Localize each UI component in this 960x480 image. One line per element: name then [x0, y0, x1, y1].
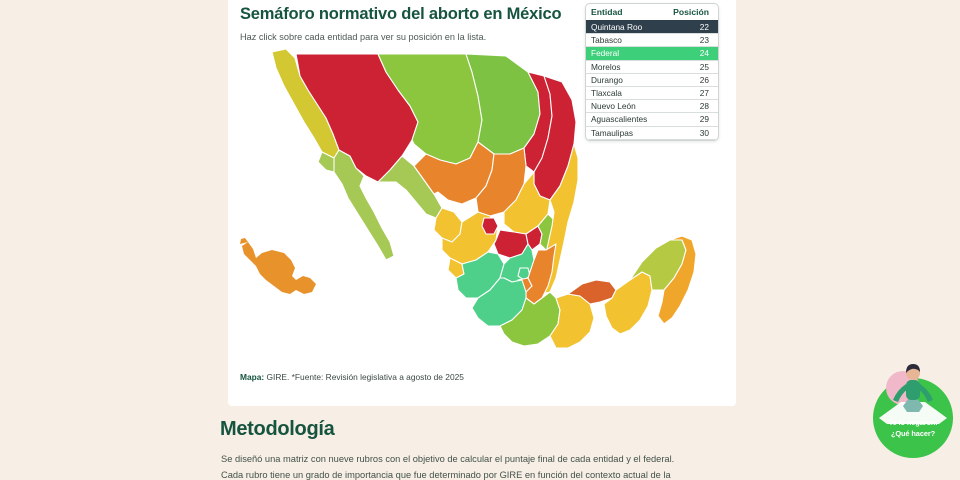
- row-posicion: 27: [669, 88, 713, 98]
- help-badge-button[interactable]: Te lo negaron. ¿Qué hacer?: [873, 378, 953, 458]
- row-entidad: Quintana Roo: [591, 22, 669, 32]
- row-posicion: 30: [669, 128, 713, 138]
- map-source-note: Mapa: GIRE. *Fuente: Revisión legislativ…: [240, 372, 464, 382]
- federal-inset-shape[interactable]: [240, 238, 316, 294]
- row-posicion: 25: [669, 62, 713, 72]
- help-badge-label: Te lo negaron. ¿Qué hacer?: [873, 418, 953, 439]
- help-badge-line-1: Te lo negaron.: [873, 418, 953, 429]
- row-posicion: 23: [669, 35, 713, 45]
- row-entidad: Morelos: [591, 62, 669, 72]
- row-posicion: 24: [669, 48, 713, 58]
- row-entidad: Durango: [591, 75, 669, 85]
- row-entidad: Tabasco: [591, 35, 669, 45]
- methodology-paragraph-line-2: Cada rubro tiene un grado de importancia…: [221, 468, 733, 480]
- table-row[interactable]: Durango 26: [586, 74, 718, 87]
- source-label: Mapa:: [240, 372, 264, 382]
- row-posicion: 22: [669, 22, 713, 32]
- methodology-heading: Metodología: [220, 418, 334, 441]
- methodology-paragraph-line-1: Se diseñó una matriz con nueve rubros co…: [221, 452, 733, 467]
- row-posicion: 28: [669, 101, 713, 111]
- page-root: Semáforo normativo del aborto en México …: [0, 0, 960, 480]
- row-entidad: Nuevo León: [591, 101, 669, 111]
- state-campeche[interactable]: [604, 272, 652, 334]
- person-hair: [906, 364, 920, 373]
- row-entidad: Tamaulipas: [591, 128, 669, 138]
- table-header-entidad: Entidad: [591, 7, 669, 17]
- entity-position-table[interactable]: Entidad Posición Quintana Roo 22 Tabasco…: [585, 3, 719, 141]
- table-row[interactable]: Morelos 25: [586, 61, 718, 74]
- table-row[interactable]: Tabasco 23: [586, 34, 718, 47]
- row-entidad: Aguascalientes: [591, 114, 669, 124]
- map-instruction: Haz click sobre cada entidad para ver su…: [240, 32, 486, 42]
- table-row[interactable]: Federal 24: [586, 47, 718, 60]
- table-header-row: Entidad Posición: [586, 4, 718, 21]
- table-row[interactable]: Nuevo León 28: [586, 100, 718, 113]
- source-text: GIRE. *Fuente: Revisión legislativa a ag…: [264, 372, 464, 382]
- help-badge-line-2: ¿Qué hacer?: [873, 429, 953, 440]
- row-posicion: 26: [669, 75, 713, 85]
- page-title: Semáforo normativo del aborto en México: [240, 5, 561, 24]
- table-header-posicion: Posición: [669, 7, 713, 17]
- table-row[interactable]: Aguascalientes 29: [586, 113, 718, 126]
- map-card: Semáforo normativo del aborto en México …: [228, 0, 736, 406]
- state-aguascalientes[interactable]: [482, 218, 498, 234]
- table-row[interactable]: Tlaxcala 27: [586, 87, 718, 100]
- row-entidad: Federal: [591, 48, 669, 58]
- table-row[interactable]: Tamaulipas 30: [586, 127, 718, 140]
- row-entidad: Tlaxcala: [591, 88, 669, 98]
- row-posicion: 29: [669, 114, 713, 124]
- table-row[interactable]: Quintana Roo 22: [586, 21, 718, 34]
- federal-inset-map[interactable]: [236, 232, 332, 318]
